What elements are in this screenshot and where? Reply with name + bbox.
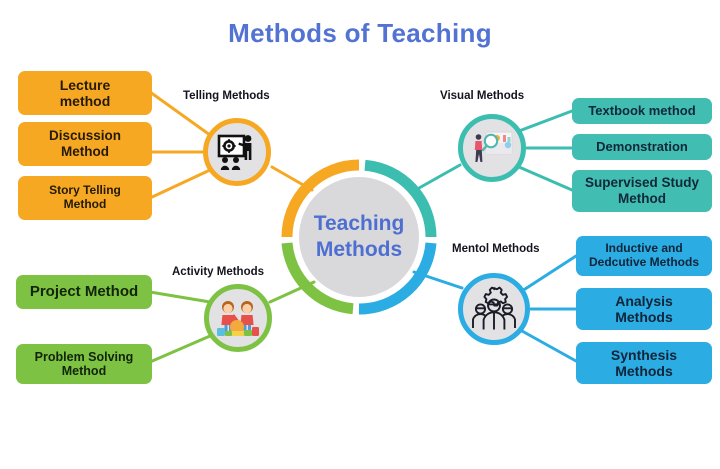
leaf-discussion-method[interactable]: Discussion Method — [18, 122, 152, 166]
leaf-inductive-deductive-methods[interactable]: Inductive and Dedcutive Methods — [576, 236, 712, 276]
presenter-whiteboard-icon — [215, 130, 259, 174]
teaching-methods-infographic: Methods of Teaching — [0, 0, 720, 469]
leaf-line2: Dedcutive Methods — [589, 256, 699, 270]
center-hub: Teaching Methods — [299, 177, 419, 297]
leaf-line1: Inductive and — [589, 242, 699, 256]
leaf-problem-solving-method[interactable]: Problem Solving Method — [16, 344, 152, 384]
leaf-line2: Method — [585, 191, 699, 207]
leaf-lecture-method[interactable]: Lecture method — [18, 71, 152, 115]
leaf-line1: Lecture — [60, 77, 111, 93]
branch-node-mentol[interactable] — [458, 273, 530, 345]
leaf-line1: Supervised Study — [585, 175, 699, 191]
center-hub-line1: Teaching — [314, 211, 405, 237]
leaf-line1: Synthesis — [611, 347, 677, 363]
leaf-line2: Method — [49, 198, 121, 212]
leaf-line2: Method — [35, 364, 134, 379]
leaf-line2: Methods — [611, 363, 677, 379]
people-gear-icon — [470, 286, 518, 332]
branch-label-visual: Visual Methods — [440, 90, 524, 102]
leaf-demonstration[interactable]: Demonstration — [572, 134, 712, 160]
children-playing-blocks-icon — [214, 296, 262, 340]
leaf-line1: Analysis — [615, 293, 673, 309]
leaf-textbook-method[interactable]: Textbook method — [572, 98, 712, 124]
leaf-project-method[interactable]: Project Method — [16, 275, 152, 309]
branch-node-visual[interactable] — [458, 114, 526, 182]
leaf-line2: Methods — [615, 309, 673, 325]
leaf-line2: method — [60, 93, 111, 109]
leaf-synthesis-methods[interactable]: Synthesis Methods — [576, 342, 712, 384]
leaf-line2: Method — [49, 144, 121, 160]
leaf-line1: Problem Solving — [35, 350, 134, 365]
leaf-line1: Story Telling — [49, 184, 121, 198]
magnifier-presentation-icon — [469, 126, 515, 170]
leaf-line1: Discussion — [49, 128, 121, 144]
center-hub-line2: Methods — [316, 237, 402, 263]
leaf-line1: Textbook method — [588, 103, 695, 118]
leaf-line1: Demonstration — [596, 139, 688, 154]
leaf-analysis-methods[interactable]: Analysis Methods — [576, 288, 712, 330]
leaf-story-telling-method[interactable]: Story Telling Method — [18, 176, 152, 220]
branch-label-telling: Telling Methods — [183, 90, 270, 102]
branch-label-mentol: Mentol Methods — [452, 243, 540, 255]
leaf-supervised-study-method[interactable]: Supervised Study Method — [572, 170, 712, 212]
leaf-line1: Project Method — [30, 283, 138, 300]
branch-node-activity[interactable] — [204, 284, 272, 352]
branch-label-activity: Activity Methods — [172, 266, 264, 278]
branch-node-telling[interactable] — [203, 118, 271, 186]
